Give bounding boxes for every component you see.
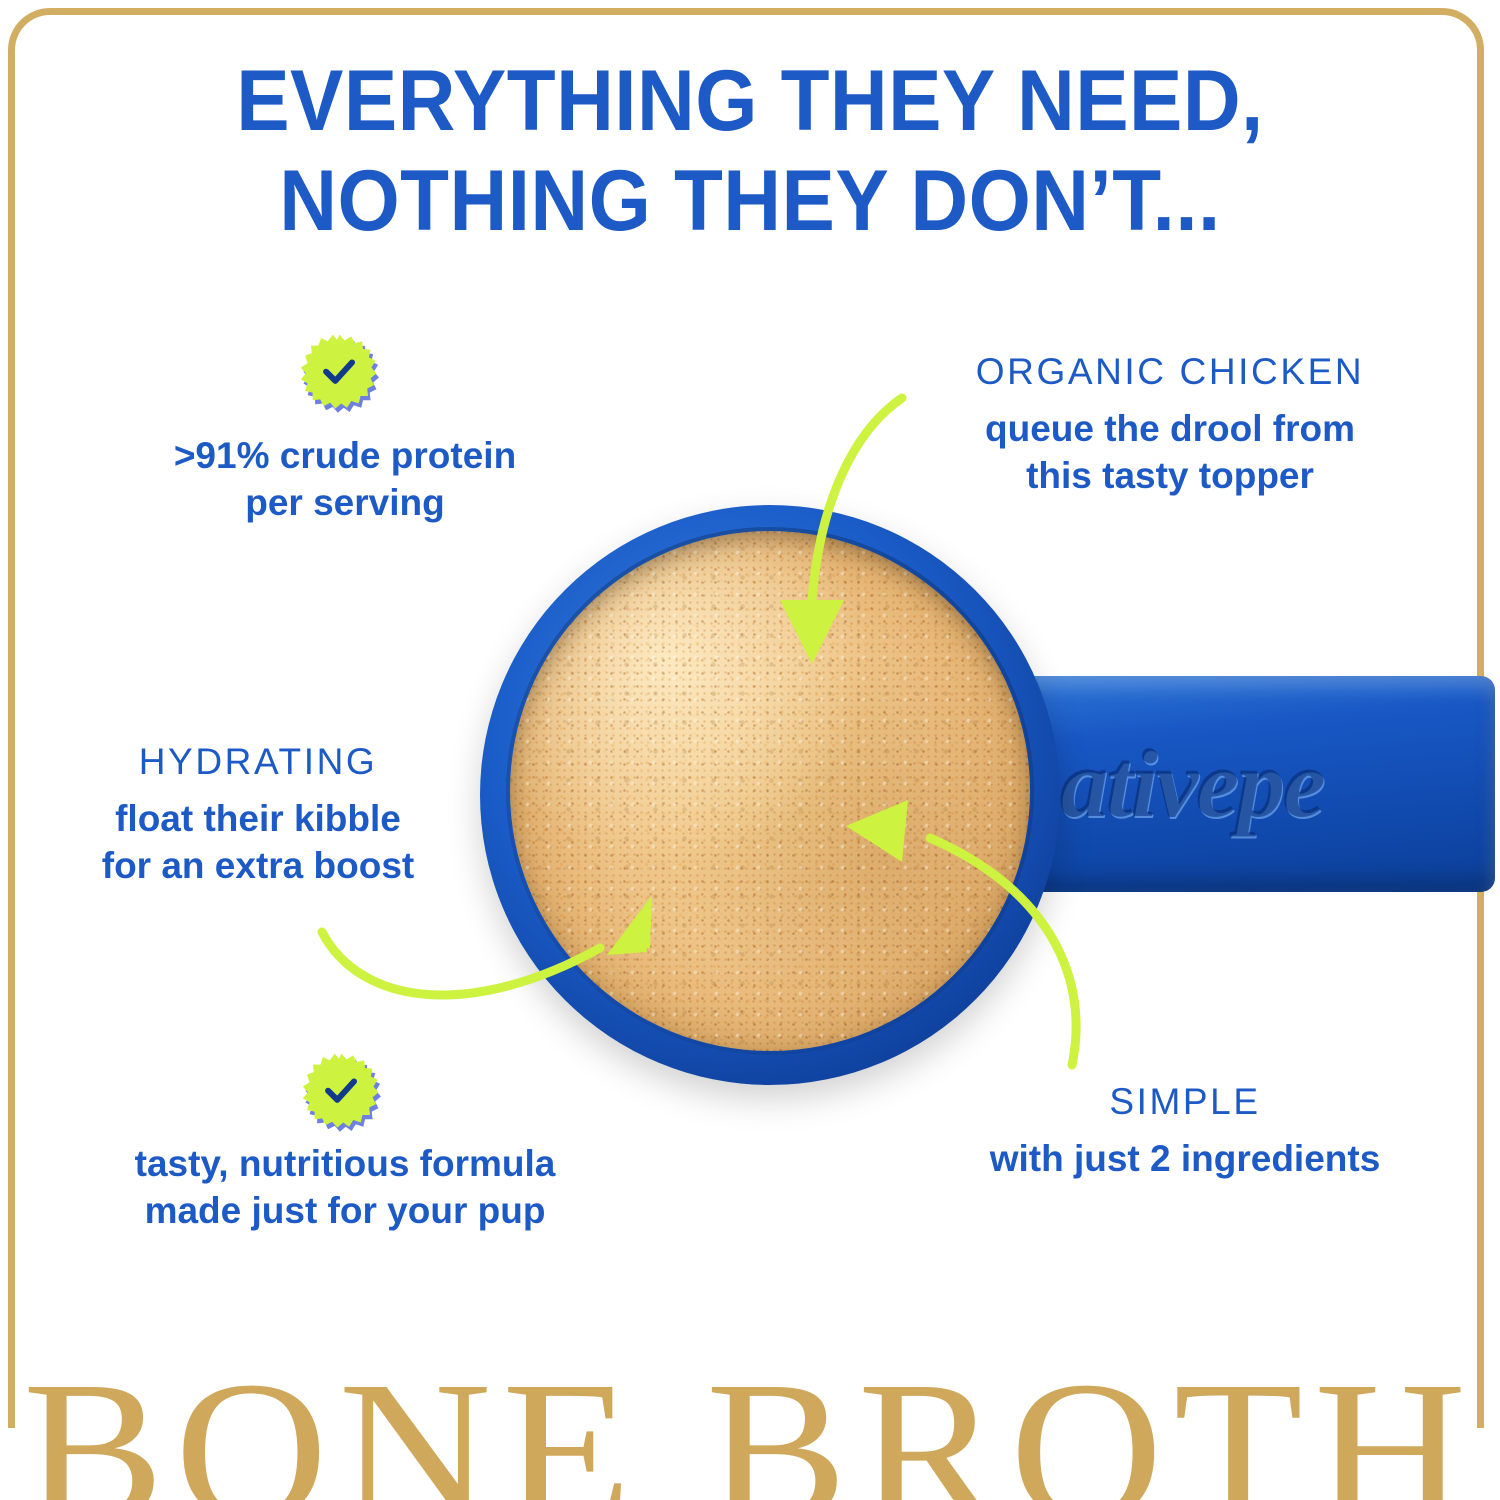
callout-organic-chicken-body: queue the drool from this tasty topper [905, 405, 1435, 500]
callout-simple: SIMPLE with just 2 ingredients [955, 1082, 1415, 1182]
headline-line-2: NOTHING THEY DON’T... [53, 158, 1448, 244]
product-photo: nativepe [455, 500, 1495, 1100]
headline-line-1: EVERYTHING THEY NEED, [236, 53, 1263, 149]
callout-protein: >91% crude protein per serving [120, 432, 570, 527]
page-title: EVERYTHING THEY NEED, NOTHING THEY DON’T… [53, 58, 1448, 244]
bone-broth-powder [510, 531, 1030, 1051]
callout-tasty-formula: tasty, nutritious formula made just for … [90, 1140, 600, 1235]
callout-organic-chicken: ORGANIC CHICKEN queue the drool from thi… [905, 352, 1435, 499]
check-badge-icon [300, 333, 384, 417]
callout-hydrating: HYDRATING float their kibble for an extr… [58, 742, 458, 889]
callout-hydrating-line-1: float their kibble [58, 795, 458, 842]
callout-protein-line-1: >91% crude protein [120, 432, 570, 479]
callout-protein-line-2: per serving [120, 479, 570, 526]
check-badge-icon [302, 1052, 386, 1136]
infographic-canvas: EVERYTHING THEY NEED, NOTHING THEY DON’T… [0, 0, 1500, 1500]
scoop-brand-emboss: nativepe [1009, 728, 1479, 839]
callout-protein-body: >91% crude protein per serving [120, 432, 570, 527]
callout-tasty-formula-line-1: tasty, nutritious formula [90, 1140, 600, 1187]
callout-simple-body: with just 2 ingredients [955, 1135, 1415, 1182]
callout-tasty-formula-line-2: made just for your pup [90, 1187, 600, 1234]
callout-organic-chicken-line-2: this tasty topper [905, 452, 1435, 499]
product-name-footer: BONE BROTH [0, 1352, 1500, 1500]
callout-hydrating-heading: HYDRATING [58, 742, 458, 783]
callout-hydrating-body: float their kibble for an extra boost [58, 795, 458, 890]
callout-simple-heading: SIMPLE [955, 1082, 1415, 1123]
callout-tasty-formula-body: tasty, nutritious formula made just for … [90, 1140, 600, 1235]
callout-hydrating-line-2: for an extra boost [58, 842, 458, 889]
callout-organic-chicken-heading: ORGANIC CHICKEN [905, 352, 1435, 393]
callout-organic-chicken-line-1: queue the drool from [905, 405, 1435, 452]
powder-texture-coarse [510, 531, 1030, 1051]
callout-simple-line-1: with just 2 ingredients [955, 1135, 1415, 1182]
scoop-bowl [480, 505, 1060, 1085]
